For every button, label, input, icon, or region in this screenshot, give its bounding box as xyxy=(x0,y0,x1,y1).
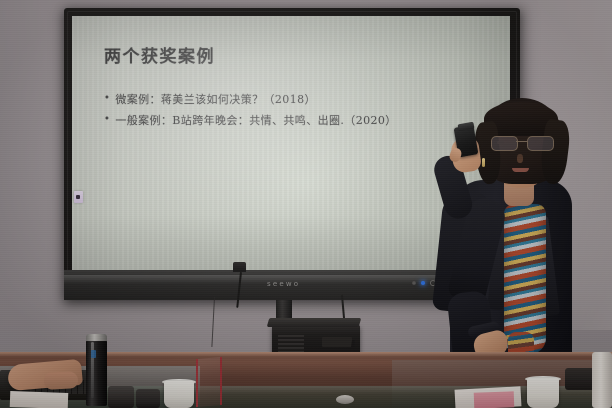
thermos-cap xyxy=(86,334,107,341)
presenter-nose xyxy=(517,154,523,163)
hand-fingers xyxy=(44,371,79,390)
name-card-tent xyxy=(196,357,222,407)
paper-cup-left xyxy=(164,381,194,408)
eyeglasses-icon xyxy=(490,136,554,150)
desk-container-b xyxy=(136,389,160,408)
equipment-front-panel xyxy=(322,337,352,347)
bullet-text: 一般案例：B站跨年晚会：共情、共鸣、出圈.（2020） xyxy=(115,110,396,131)
thermos-label xyxy=(91,350,96,358)
slide-bullet-list: • 微案例：蒋美兰该如何决策？（2018） • 一般案例：B站跨年晚会：共情、共… xyxy=(104,89,484,132)
bullet-marker-icon: • xyxy=(104,89,110,109)
desk-container-a xyxy=(108,386,134,408)
paper-cup-right xyxy=(527,378,559,408)
eyeglass-lens-right xyxy=(527,136,554,151)
bezel-sensor-module xyxy=(233,262,246,272)
pink-folder xyxy=(474,391,515,408)
power-button[interactable] xyxy=(421,281,425,285)
rolled-paper-tube xyxy=(592,352,612,408)
bullet-marker-icon: • xyxy=(104,110,110,130)
documents-stack-left xyxy=(10,391,69,408)
eyeglass-bridge xyxy=(516,141,527,142)
list-item: • 微案例：蒋美兰该如何决策？（2018） xyxy=(104,89,484,110)
eyeglass-lens-left xyxy=(491,136,518,151)
menu-button[interactable] xyxy=(412,281,416,285)
lecture-room-photo: 两个获奖案例 • 微案例：蒋美兰该如何决策？（2018） • 一般案例：B站跨年… xyxy=(0,0,612,408)
thermos-bottle xyxy=(86,338,107,406)
equipment-box-top xyxy=(267,318,362,327)
list-item: • 一般案例：B站跨年晚会：共情、共鸣、出圈.（2020） xyxy=(104,110,484,131)
presenter-mouth xyxy=(512,168,529,172)
bullet-text: 微案例：蒋美兰该如何决策？（2018） xyxy=(115,89,316,110)
slide-title: 两个获奖案例 xyxy=(104,42,484,67)
table-microphone-base xyxy=(336,395,354,404)
presenter-earring xyxy=(482,158,485,167)
display-brand-logo: seewo xyxy=(267,280,300,288)
screen-edge-sticker xyxy=(74,191,83,203)
equipment-vents xyxy=(278,335,304,353)
